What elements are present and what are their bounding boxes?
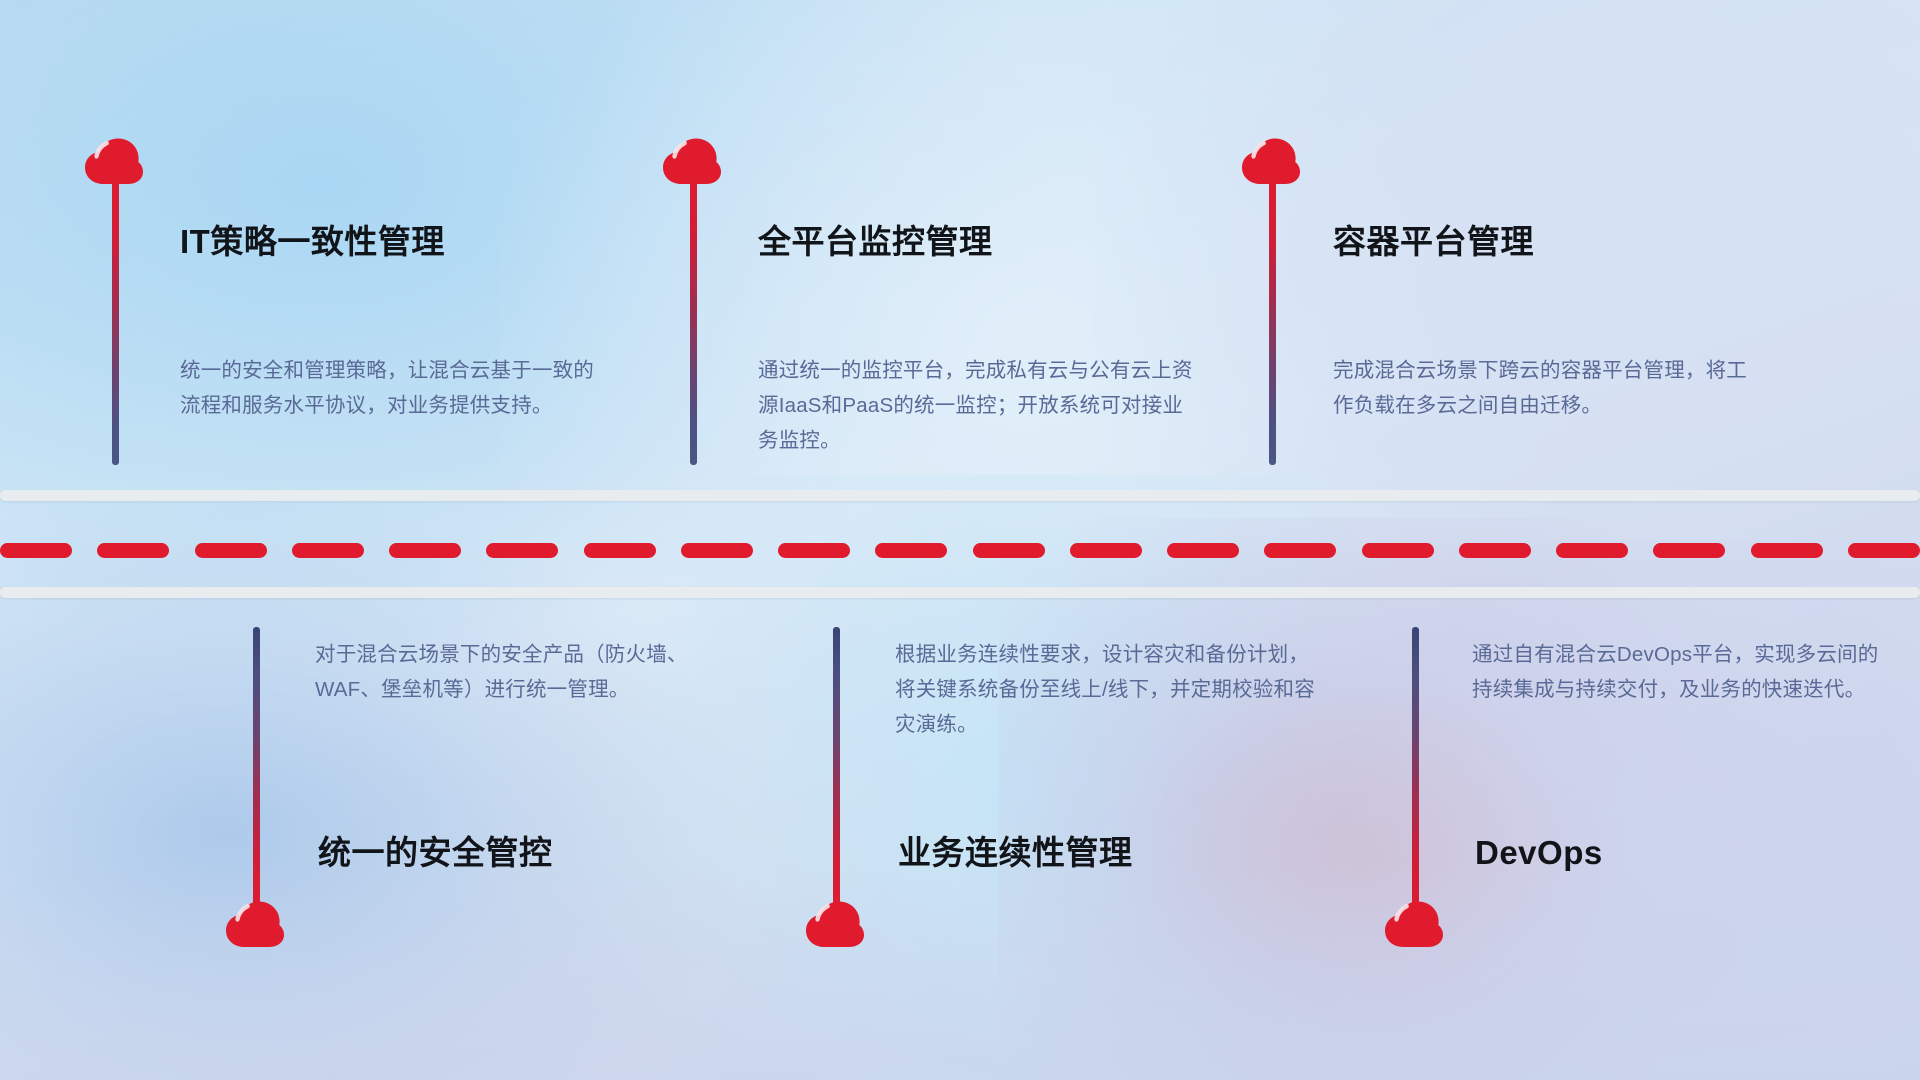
top-item-3-body: 完成混合云场景下跨云的容器平台管理，将工作负载在多云之间自由迁移。 — [1333, 353, 1753, 423]
stem-line — [253, 627, 260, 917]
divider-dash — [195, 543, 267, 558]
cloud-icon — [224, 898, 286, 948]
top-item-1-heading: IT策略一致性管理 — [180, 225, 445, 258]
divider-dash — [486, 543, 558, 558]
top-item-2-body: 通过统一的监控平台，完成私有云与公有云上资源IaaS和PaaS的统一监控；开放系… — [758, 353, 1198, 458]
cloud-icon — [1383, 898, 1445, 948]
divider-dash — [292, 543, 364, 558]
bottom-item-2-heading: 业务连续性管理 — [898, 836, 1133, 869]
top-item-2-heading: 全平台监控管理 — [758, 225, 993, 258]
bottom-item-3-heading: DevOps — [1475, 836, 1603, 869]
divider-dash — [584, 543, 656, 558]
divider-dash — [389, 543, 461, 558]
divider-dash — [681, 543, 753, 558]
bottom-item-3-body: 通过自有混合云DevOps平台，实现多云间的持续集成与持续交付，及业务的快速迭代… — [1472, 637, 1892, 707]
divider-dash — [1556, 543, 1628, 558]
top-item-3-heading: 容器平台管理 — [1333, 225, 1534, 258]
background — [0, 0, 1920, 1080]
bottom-item-2-body: 根据业务连续性要求，设计容灾和备份计划，将关键系统备份至线上/线下，并定期校验和… — [895, 637, 1325, 742]
divider-dash — [973, 543, 1045, 558]
cloud-icon — [804, 898, 866, 948]
divider-dash — [1459, 543, 1531, 558]
divider-dash — [1362, 543, 1434, 558]
divider-rail-bottom — [0, 587, 1920, 598]
stem-line — [1269, 175, 1276, 465]
divider-dash — [1751, 543, 1823, 558]
divider-dash — [1070, 543, 1142, 558]
divider-dash — [0, 543, 72, 558]
bottom-item-1-body: 对于混合云场景下的安全产品（防火墙、WAF、堡垒机等）进行统一管理。 — [315, 637, 735, 707]
bottom-item-1-heading: 统一的安全管控 — [318, 836, 553, 869]
divider-dash — [1167, 543, 1239, 558]
stem-line — [833, 627, 840, 917]
divider-dash — [1264, 543, 1336, 558]
stem-line — [690, 175, 697, 465]
divider-dash — [97, 543, 169, 558]
divider-dash — [778, 543, 850, 558]
stem-line — [112, 175, 119, 465]
divider-dash — [1848, 543, 1920, 558]
background-glow-base-fade — [0, 864, 1920, 1080]
stem-line — [1412, 627, 1419, 917]
divider-dash — [1653, 543, 1725, 558]
divider-rail-top — [0, 490, 1920, 501]
top-item-1-body: 统一的安全和管理策略，让混合云基于一致的流程和服务水平协议，对业务提供支持。 — [180, 353, 600, 423]
divider-dash — [875, 543, 947, 558]
divider-dashed-line — [0, 543, 1920, 558]
